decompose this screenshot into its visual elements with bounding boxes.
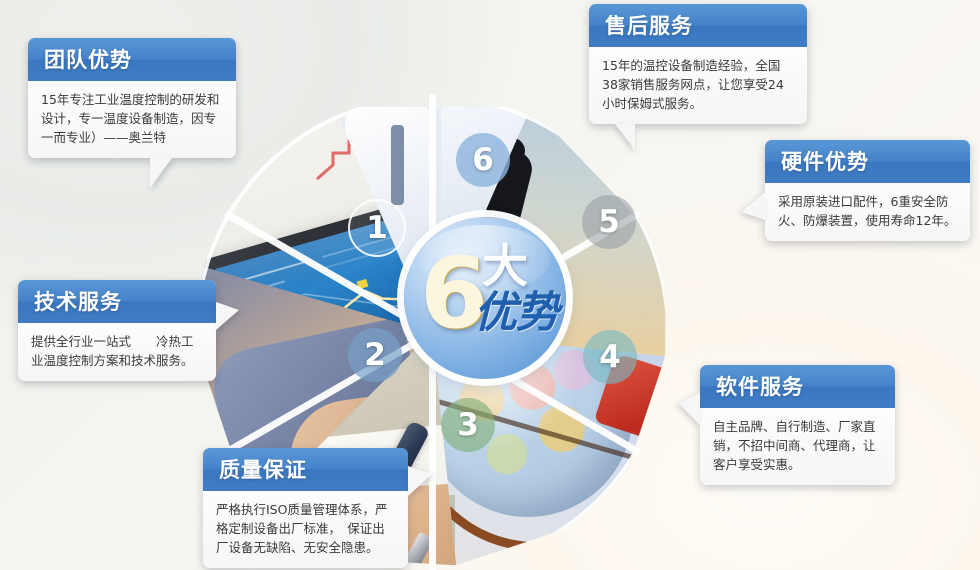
callout-tail-after-sales bbox=[615, 124, 635, 150]
marker-5[interactable]: 5 bbox=[582, 195, 636, 249]
marker-1-label: 1 bbox=[366, 210, 388, 246]
infographic-canvas: 1 2 3 4 5 6 6 大 优势 团队优势 15年专注工业温度控制的研发和设… bbox=[0, 0, 980, 570]
callout-card-after-sales[interactable]: 售后服务 15年的温控设备制造经验，全国38家销售服务网点，让您享受24小时保姆… bbox=[589, 4, 807, 124]
center-badge: 6 大 优势 bbox=[404, 217, 566, 379]
callout-tail-team bbox=[150, 158, 172, 188]
marker-2[interactable]: 2 bbox=[348, 328, 402, 382]
card-title-quality: 质量保证 bbox=[203, 448, 408, 491]
card-title-software: 软件服务 bbox=[700, 365, 895, 408]
marker-5-label: 5 bbox=[598, 204, 620, 240]
card-title-after-sales: 售后服务 bbox=[589, 4, 807, 47]
callout-card-technical[interactable]: 技术服务 提供全行业一站式 冷热工业温度控制方案和技术服务。 bbox=[18, 280, 216, 381]
card-body-after-sales: 15年的温控设备制造经验，全国38家销售服务网点，让您享受24小时保姆式服务。 bbox=[589, 47, 807, 124]
callout-card-quality[interactable]: 质量保证 严格执行ISO质量管理体系，严格定制设备出厂标准， 保证出厂设备无缺陷… bbox=[203, 448, 408, 568]
marker-6[interactable]: 6 bbox=[456, 133, 510, 187]
marker-4[interactable]: 4 bbox=[583, 330, 637, 384]
card-body-technical: 提供全行业一站式 冷热工业温度控制方案和技术服务。 bbox=[18, 323, 216, 381]
callout-card-team[interactable]: 团队优势 15年专注工业温度控制的研发和设计，专一温度设备制造，因专一而专业）—… bbox=[28, 38, 236, 158]
card-title-technical: 技术服务 bbox=[18, 280, 216, 323]
marker-4-label: 4 bbox=[599, 339, 621, 375]
callout-tail-technical bbox=[216, 302, 239, 330]
card-body-team: 15年专注工业温度控制的研发和设计，专一温度设备制造，因专一而专业）——奥兰特 bbox=[28, 81, 236, 158]
card-title-hardware: 硬件优势 bbox=[765, 140, 970, 183]
marker-1[interactable]: 1 bbox=[348, 199, 406, 257]
card-body-software: 自主品牌、自行制造、厂家直销，不招中间商、代理商，让客户享受实惠。 bbox=[700, 408, 895, 485]
marker-3-label: 3 bbox=[457, 407, 479, 443]
callout-tail-hardware bbox=[741, 192, 765, 220]
card-body-quality: 严格执行ISO质量管理体系，严格定制设备出厂标准， 保证出厂设备无缺陷、无安全隐… bbox=[203, 491, 408, 568]
callout-card-hardware[interactable]: 硬件优势 采用原装进口配件，6重安全防火、防爆装置，使用寿命12年。 bbox=[765, 140, 970, 241]
badge-word-big: 大 bbox=[482, 243, 528, 289]
callout-tail-quality bbox=[408, 466, 432, 496]
callout-card-software[interactable]: 软件服务 自主品牌、自行制造、厂家直销，不招中间商、代理商，让客户享受实惠。 bbox=[700, 365, 895, 485]
badge-word-script: 优势 bbox=[474, 291, 558, 336]
necktie bbox=[391, 125, 404, 205]
marker-6-label: 6 bbox=[472, 142, 494, 178]
callout-tail-software bbox=[678, 393, 700, 425]
marker-2-label: 2 bbox=[364, 337, 386, 373]
marker-3[interactable]: 3 bbox=[441, 398, 495, 452]
card-body-hardware: 采用原装进口配件，6重安全防火、防爆装置，使用寿命12年。 bbox=[765, 183, 970, 241]
card-title-team: 团队优势 bbox=[28, 38, 236, 81]
